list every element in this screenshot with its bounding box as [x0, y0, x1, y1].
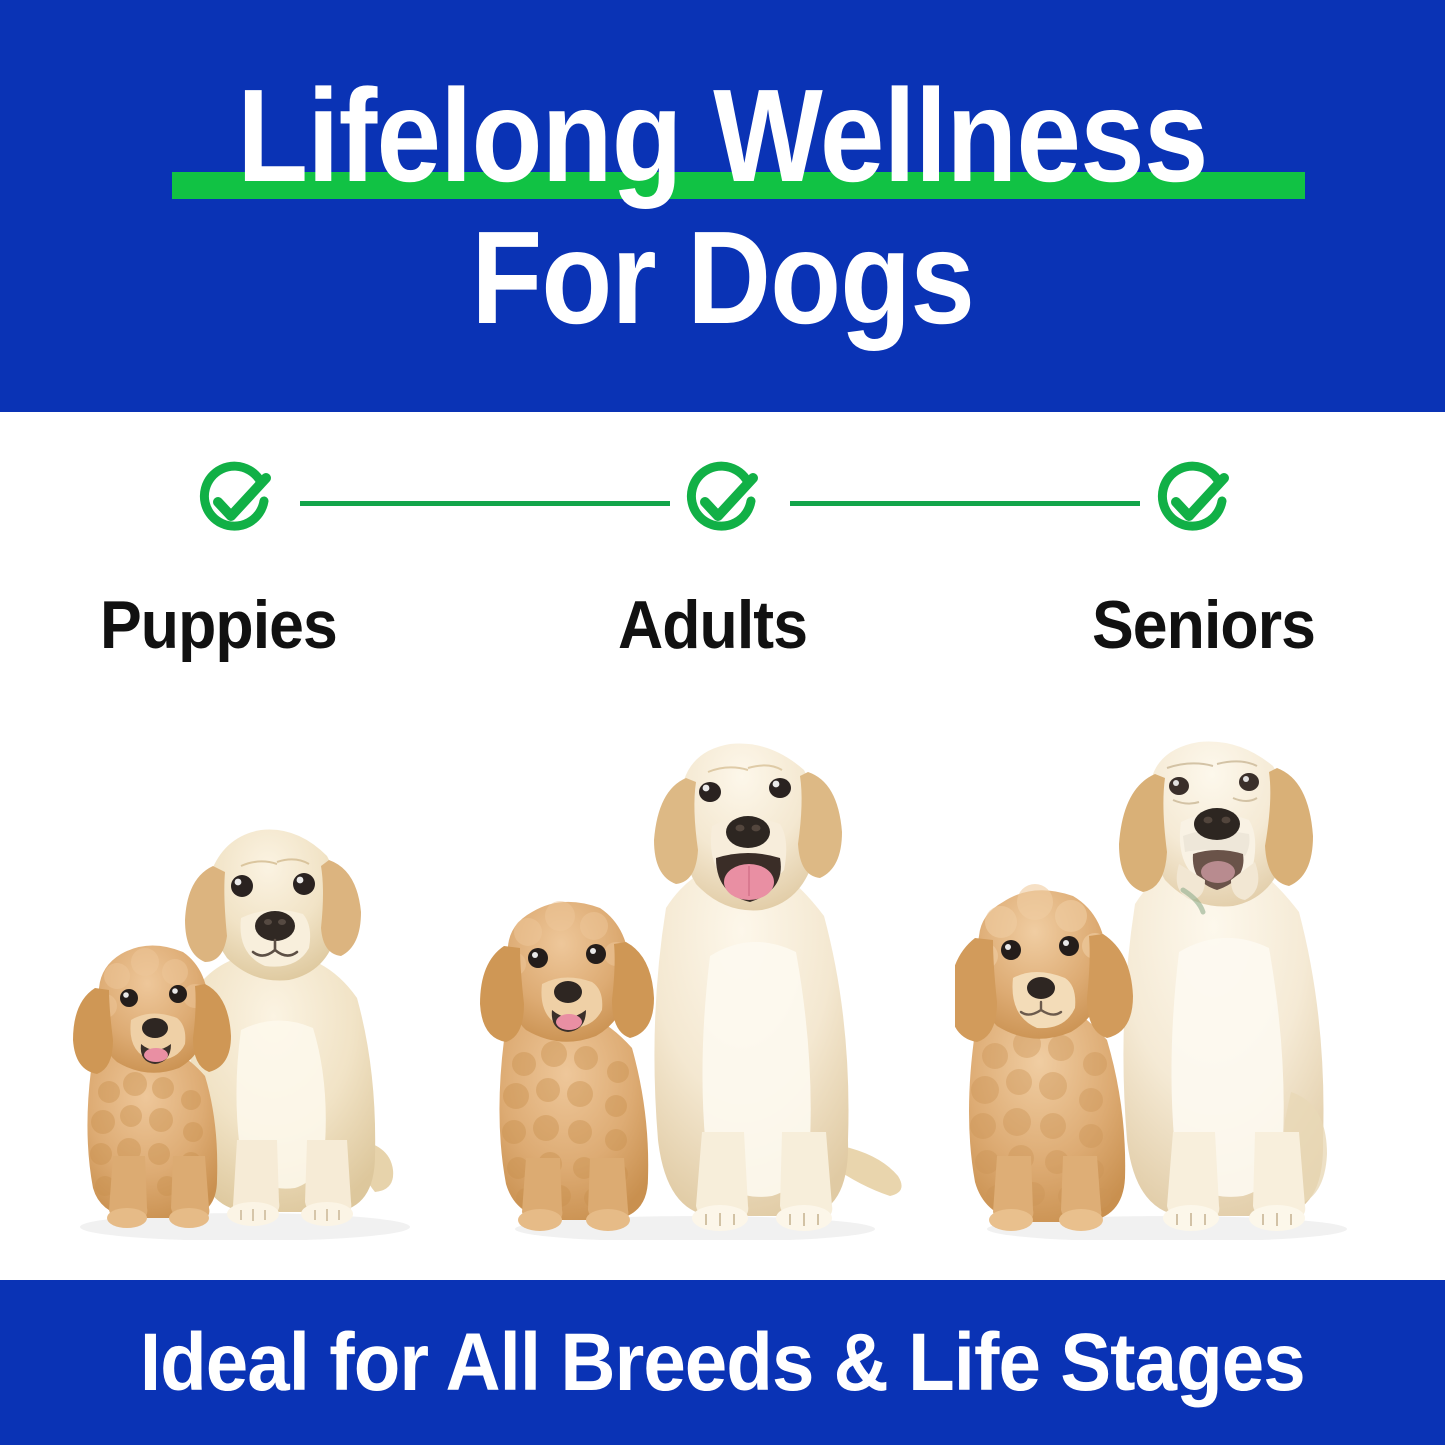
stage-connector-line-1 [300, 501, 670, 506]
stage-photo-puppies [45, 740, 440, 1240]
check-circle-icon [1148, 457, 1238, 547]
stages-section: Puppies Adults Seniors [0, 412, 1445, 1280]
page-title-line2: For Dogs [471, 212, 974, 344]
footer-tagline: Ideal for All Breeds & Life Stages [140, 1317, 1305, 1409]
stage-steps-row [0, 457, 1445, 557]
stage-connector-line-2 [790, 501, 1140, 506]
check-circle-icon [190, 457, 280, 547]
stage-label-seniors: Seniors [1092, 587, 1315, 663]
check-circle-icon [677, 457, 767, 547]
stage-label-adults: Adults [618, 587, 807, 663]
footer-text-holder: Ideal for All Breeds & Life Stages [0, 1280, 1445, 1445]
title-line2-holder: For Dogs [0, 212, 1445, 352]
stage-photo-seniors [955, 740, 1380, 1240]
poster-root: Lifelong Wellness For Dogs [0, 0, 1445, 1445]
stage-photo-adults [480, 740, 910, 1240]
footer-banner: Ideal for All Breeds & Life Stages [0, 1280, 1445, 1445]
page-title-line1: Lifelong Wellness [237, 70, 1207, 202]
stage-labels-row: Puppies Adults Seniors [0, 587, 1445, 667]
header-title-wrap: Lifelong Wellness For Dogs [0, 0, 1445, 412]
stage-photos-row [0, 682, 1445, 1280]
header-banner: Lifelong Wellness For Dogs [0, 0, 1445, 412]
stage-label-puppies: Puppies [100, 587, 337, 663]
